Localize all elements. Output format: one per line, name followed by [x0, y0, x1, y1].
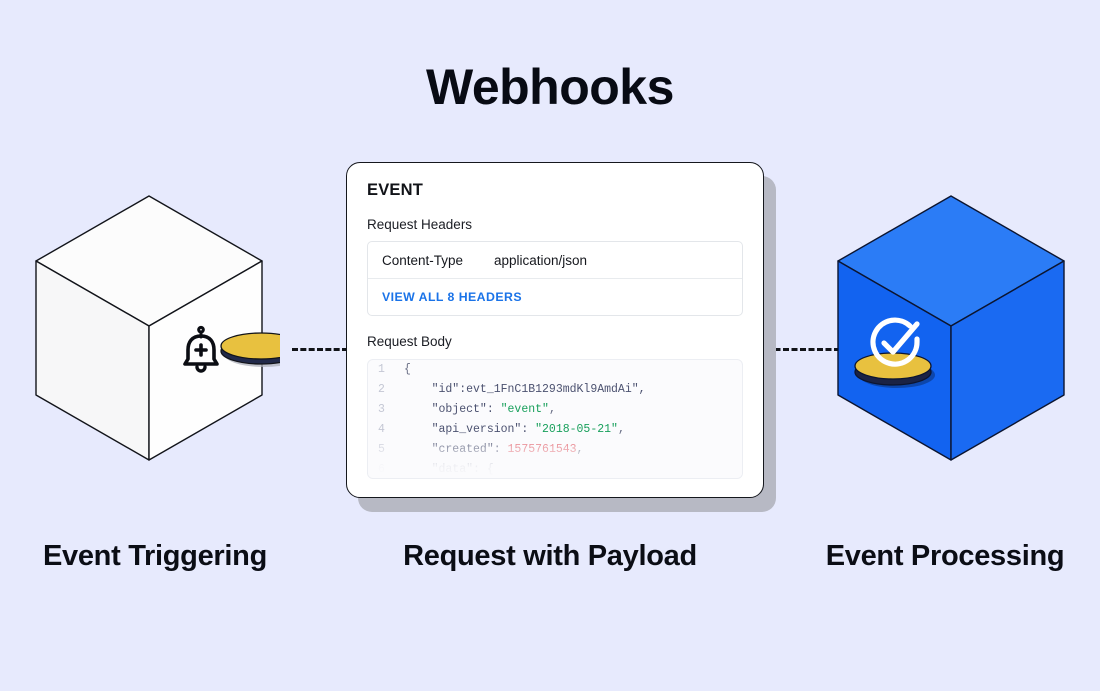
code-line: 3 "object": "event", — [368, 400, 742, 420]
code-token: "api_version": — [404, 423, 535, 436]
code-line-number: 1 — [378, 360, 404, 380]
code-token: { — [404, 363, 411, 376]
code-lines-container: 1{2 "id":evt_1FnC1B1293mdKl9AmdAi",3 "ob… — [368, 360, 742, 479]
right-cube-graphic — [820, 188, 1082, 478]
request-body-label: Request Body — [367, 334, 743, 349]
code-line-text: "data": { — [404, 460, 494, 479]
code-token: 1575761543 — [508, 443, 577, 456]
code-token: "2018-05-21" — [535, 423, 618, 436]
code-line: 5 "created": 1575761543, — [368, 440, 742, 460]
header-key: Content-Type — [382, 253, 494, 268]
code-line-number: 4 — [378, 420, 404, 440]
request-body-code-block[interactable]: 1{2 "id":evt_1FnC1B1293mdKl9AmdAi",3 "ob… — [367, 359, 743, 479]
header-value: application/json — [494, 253, 587, 268]
connector-left-dashed-line — [292, 348, 348, 351]
caption-event-triggering: Event Triggering — [0, 540, 310, 573]
code-token: "data": { — [404, 463, 494, 476]
code-line-text: "created": 1575761543, — [404, 440, 583, 460]
view-all-headers-row[interactable]: VIEW ALL 8 HEADERS — [368, 279, 742, 315]
code-line: 2 "id":evt_1FnC1B1293mdKl9AmdAi", — [368, 380, 742, 400]
code-line-text: "object": "event", — [404, 400, 556, 420]
code-token: "event" — [501, 403, 549, 416]
code-line-number: 2 — [378, 380, 404, 400]
code-line: 6 "data": { — [368, 460, 742, 479]
code-line: 4 "api_version": "2018-05-21", — [368, 420, 742, 440]
code-token: "created": — [404, 443, 508, 456]
code-line-text: "api_version": "2018-05-21", — [404, 420, 625, 440]
caption-request-with-payload: Request with Payload — [380, 540, 720, 573]
code-token: , — [618, 423, 625, 436]
header-row: Content-Type application/json — [368, 242, 742, 279]
request-headers-table: Content-Type application/json VIEW ALL 8… — [367, 241, 743, 316]
code-line-number: 5 — [378, 440, 404, 460]
code-line-text: { — [404, 360, 411, 380]
request-headers-label: Request Headers — [367, 217, 743, 232]
event-card: EVENT Request Headers Content-Type appli… — [346, 162, 764, 498]
code-line-number: 3 — [378, 400, 404, 420]
view-all-headers-link[interactable]: VIEW ALL 8 HEADERS — [382, 290, 522, 304]
page-title: Webhooks — [0, 58, 1100, 116]
code-token: "object": — [404, 403, 501, 416]
code-line-text: "id":evt_1FnC1B1293mdKl9AmdAi", — [404, 380, 646, 400]
event-card-title: EVENT — [367, 181, 743, 200]
code-token: , — [549, 403, 556, 416]
diagram-canvas: Webhooks — [0, 0, 1100, 691]
code-line: 1{ — [368, 360, 742, 380]
code-token: "id":evt_1FnC1B1293mdKl9AmdAi", — [404, 383, 646, 396]
caption-event-processing: Event Processing — [790, 540, 1100, 573]
code-line-number: 6 — [378, 460, 404, 479]
code-token: , — [577, 443, 584, 456]
left-cube-graphic — [18, 188, 280, 478]
